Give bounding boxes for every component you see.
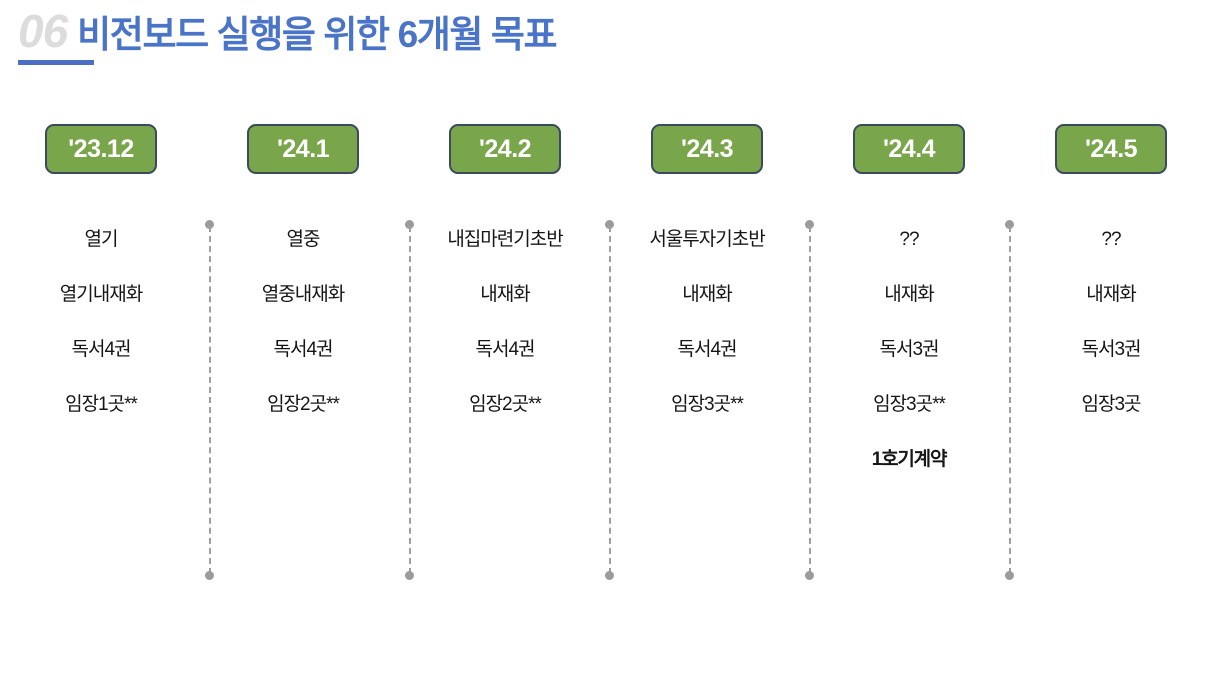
goal-item: 내재화 xyxy=(884,267,933,322)
timeline-column: '24.5??내재화독서3권임장3곳 xyxy=(1010,110,1212,610)
goal-item: 내재화 xyxy=(1086,267,1135,322)
goal-item: 독서3권 xyxy=(1081,322,1140,377)
goal-highlight: 1호기계약 xyxy=(872,432,947,487)
divider-dashed-line xyxy=(409,226,411,574)
goal-item: 열기내재화 xyxy=(60,267,142,322)
goal-item: 열기 xyxy=(85,212,118,267)
divider-dot-icon xyxy=(205,571,214,580)
goal-item: 내집마련기초반 xyxy=(447,212,562,267)
goal-item: 독서4권 xyxy=(71,322,130,377)
goal-item: 독서4권 xyxy=(677,322,736,377)
month-badge[interactable]: '24.3 xyxy=(651,124,763,174)
month-badge[interactable]: '24.5 xyxy=(1055,124,1167,174)
goal-item: 열중 xyxy=(287,212,320,267)
goal-list: 서울투자기초반내재화독서4권임장3곳** xyxy=(606,212,808,432)
goal-item: 임장1곳** xyxy=(65,377,137,432)
title-group: 06 비전보드 실행을 위한 6개월 목표 xyxy=(18,8,556,54)
column-divider xyxy=(405,220,414,580)
divider-dot-icon xyxy=(1005,571,1014,580)
goal-item: 임장3곳** xyxy=(671,377,743,432)
goal-item: 임장2곳** xyxy=(267,377,339,432)
goal-item: ?? xyxy=(1101,212,1120,267)
divider-dashed-line xyxy=(209,226,211,574)
goal-item: 열중내재화 xyxy=(262,267,344,322)
timeline-column: '23.12열기열기내재화독서4권임장1곳** xyxy=(0,110,202,610)
page-title: 비전보드 실행을 위한 6개월 목표 xyxy=(77,16,556,53)
goal-item: 임장3곳 xyxy=(1081,377,1140,432)
goal-list: ??내재화독서3권임장3곳**1호기계약 xyxy=(808,212,1010,487)
goal-item: 서울투자기초반 xyxy=(649,212,764,267)
divider-dot-icon xyxy=(405,571,414,580)
goal-item: 독서4권 xyxy=(475,322,534,377)
timeline-column: '24.3서울투자기초반내재화독서4권임장3곳** xyxy=(606,110,808,610)
goal-item: 임장3곳** xyxy=(873,377,945,432)
divider-dot-icon xyxy=(805,571,814,580)
slide-number: 06 xyxy=(18,8,77,54)
goal-item: 내재화 xyxy=(682,267,731,322)
divider-dot-icon xyxy=(605,571,614,580)
month-badge[interactable]: '24.1 xyxy=(247,124,359,174)
timeline-column: '24.1열중열중내재화독서4권임장2곳** xyxy=(202,110,404,610)
divider-dashed-line xyxy=(609,226,611,574)
goal-item: 독서4권 xyxy=(273,322,332,377)
column-divider xyxy=(205,220,214,580)
goal-item: 내재화 xyxy=(480,267,529,322)
timeline-column: '24.4??내재화독서3권임장3곳**1호기계약 xyxy=(808,110,1010,610)
month-badge[interactable]: '23.12 xyxy=(45,124,157,174)
goal-list: 열기열기내재화독서4권임장1곳** xyxy=(0,212,202,432)
column-divider xyxy=(1005,220,1014,580)
column-divider xyxy=(605,220,614,580)
timeline-column: '24.2내집마련기초반내재화독서4권임장2곳** xyxy=(404,110,606,610)
goal-list: ??내재화독서3권임장3곳 xyxy=(1010,212,1212,432)
month-badge[interactable]: '24.4 xyxy=(853,124,965,174)
goal-item: 임장2곳** xyxy=(469,377,541,432)
divider-dashed-line xyxy=(1009,226,1011,574)
column-divider xyxy=(805,220,814,580)
title-underline-accent xyxy=(18,60,94,65)
goal-list: 내집마련기초반내재화독서4권임장2곳** xyxy=(404,212,606,432)
goal-item: ?? xyxy=(899,212,918,267)
goal-list: 열중열중내재화독서4권임장2곳** xyxy=(202,212,404,432)
goal-item: 독서3권 xyxy=(879,322,938,377)
divider-dashed-line xyxy=(809,226,811,574)
slide-header: 06 비전보드 실행을 위한 6개월 목표 xyxy=(0,0,1212,100)
month-badge[interactable]: '24.2 xyxy=(449,124,561,174)
